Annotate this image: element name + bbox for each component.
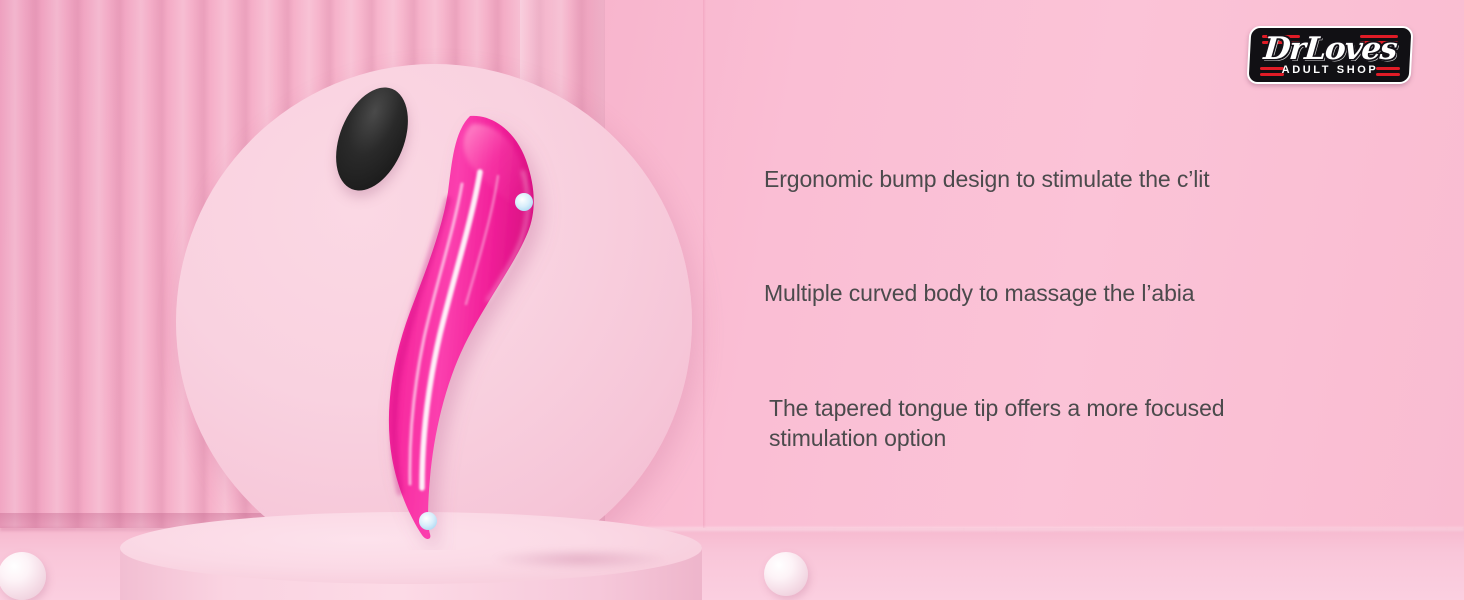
product-image [330,80,590,550]
logo-brand-name: DrLoves [1246,31,1413,67]
feature-text-column: Ergonomic bump design to stimulate the c… [764,0,1384,600]
product-contact-shadow [490,548,670,570]
feature-text-2: Multiple curved body to massage the l’ab… [764,278,1195,308]
tongue-vibrator-illustration [330,80,590,550]
feature-text-3: The tapered tongue tip offers a more foc… [769,393,1224,454]
brand-logo[interactable]: DrLoves ADULT SHOP [1248,26,1412,84]
pearl-sphere-left [0,552,46,600]
product-feature-banner: Ergonomic bump design to stimulate the c… [0,0,1464,600]
logo-subtitle: ADULT SHOP [1248,64,1412,76]
feature-text-1: Ergonomic bump design to stimulate the c… [764,164,1210,194]
indicator-dot-tip [419,512,437,530]
indicator-dot-upper [515,193,533,211]
